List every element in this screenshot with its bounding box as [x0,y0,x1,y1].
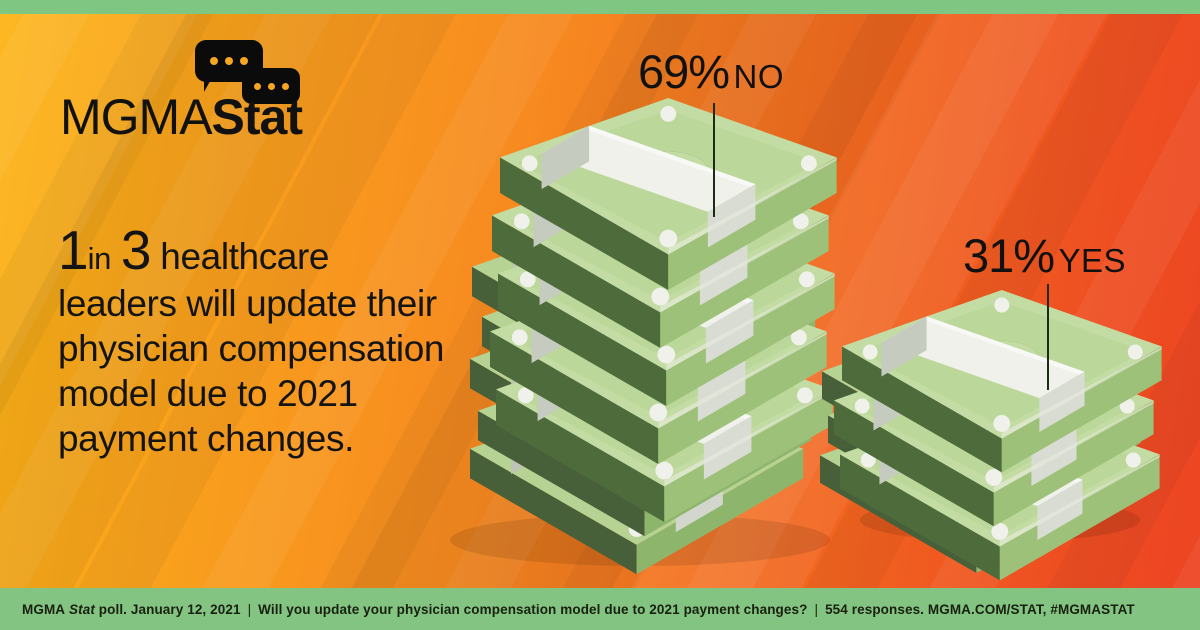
footer-source-suffix: poll. January 12, 2021 [99,602,241,617]
page-title: 1in 3 healthcare leaders will update the… [58,228,448,461]
callout-no-percent: 69% [638,45,729,98]
headline-word-in: in [88,241,111,276]
footer-separator-1: | [241,602,259,617]
dot-icon [240,57,248,65]
mgma-stat-logo: MGMAStat [60,40,350,150]
footer-responses: 554 responses. MGMA.COM/STAT, #MGMASTAT [825,602,1135,617]
headline-rest: healthcare leaders will update their phy… [58,236,444,459]
cash-stack-left [470,98,837,574]
logo-wordmark: MGMAStat [60,92,302,142]
footer-separator-2: | [807,602,825,617]
callout-no-answer: NO [734,58,785,95]
dot-icon [225,57,233,65]
cash-stack-right [820,290,1162,580]
callout-yes-percent: 31% [963,229,1054,282]
footer-bar: MGMA Stat poll. January 12, 2021 | Will … [0,588,1200,630]
leader-line-yes [1047,284,1049,390]
headline-number-three: 3 [121,219,151,281]
callout-yes-answer: YES [1059,242,1127,279]
logo-word-mgma: MGMA [60,89,212,145]
top-green-band [0,0,1200,14]
footer-source-prefix: MGMA [22,602,65,617]
footer-source-italic: Stat [69,602,95,617]
footer-text: MGMA Stat poll. January 12, 2021 | Will … [22,588,1135,630]
footer-question: Will you update your physician compensat… [258,602,807,617]
leader-line-no [713,103,715,217]
callout-yes: 31% YES [963,228,1126,283]
callout-no: 69% NO [638,44,784,99]
infographic-canvas: MGMAStat 1in 3 healthcare leaders will u… [0,0,1200,630]
dot-icon [210,57,218,65]
headline-number-one: 1 [58,219,88,281]
logo-word-stat: Stat [212,89,302,145]
